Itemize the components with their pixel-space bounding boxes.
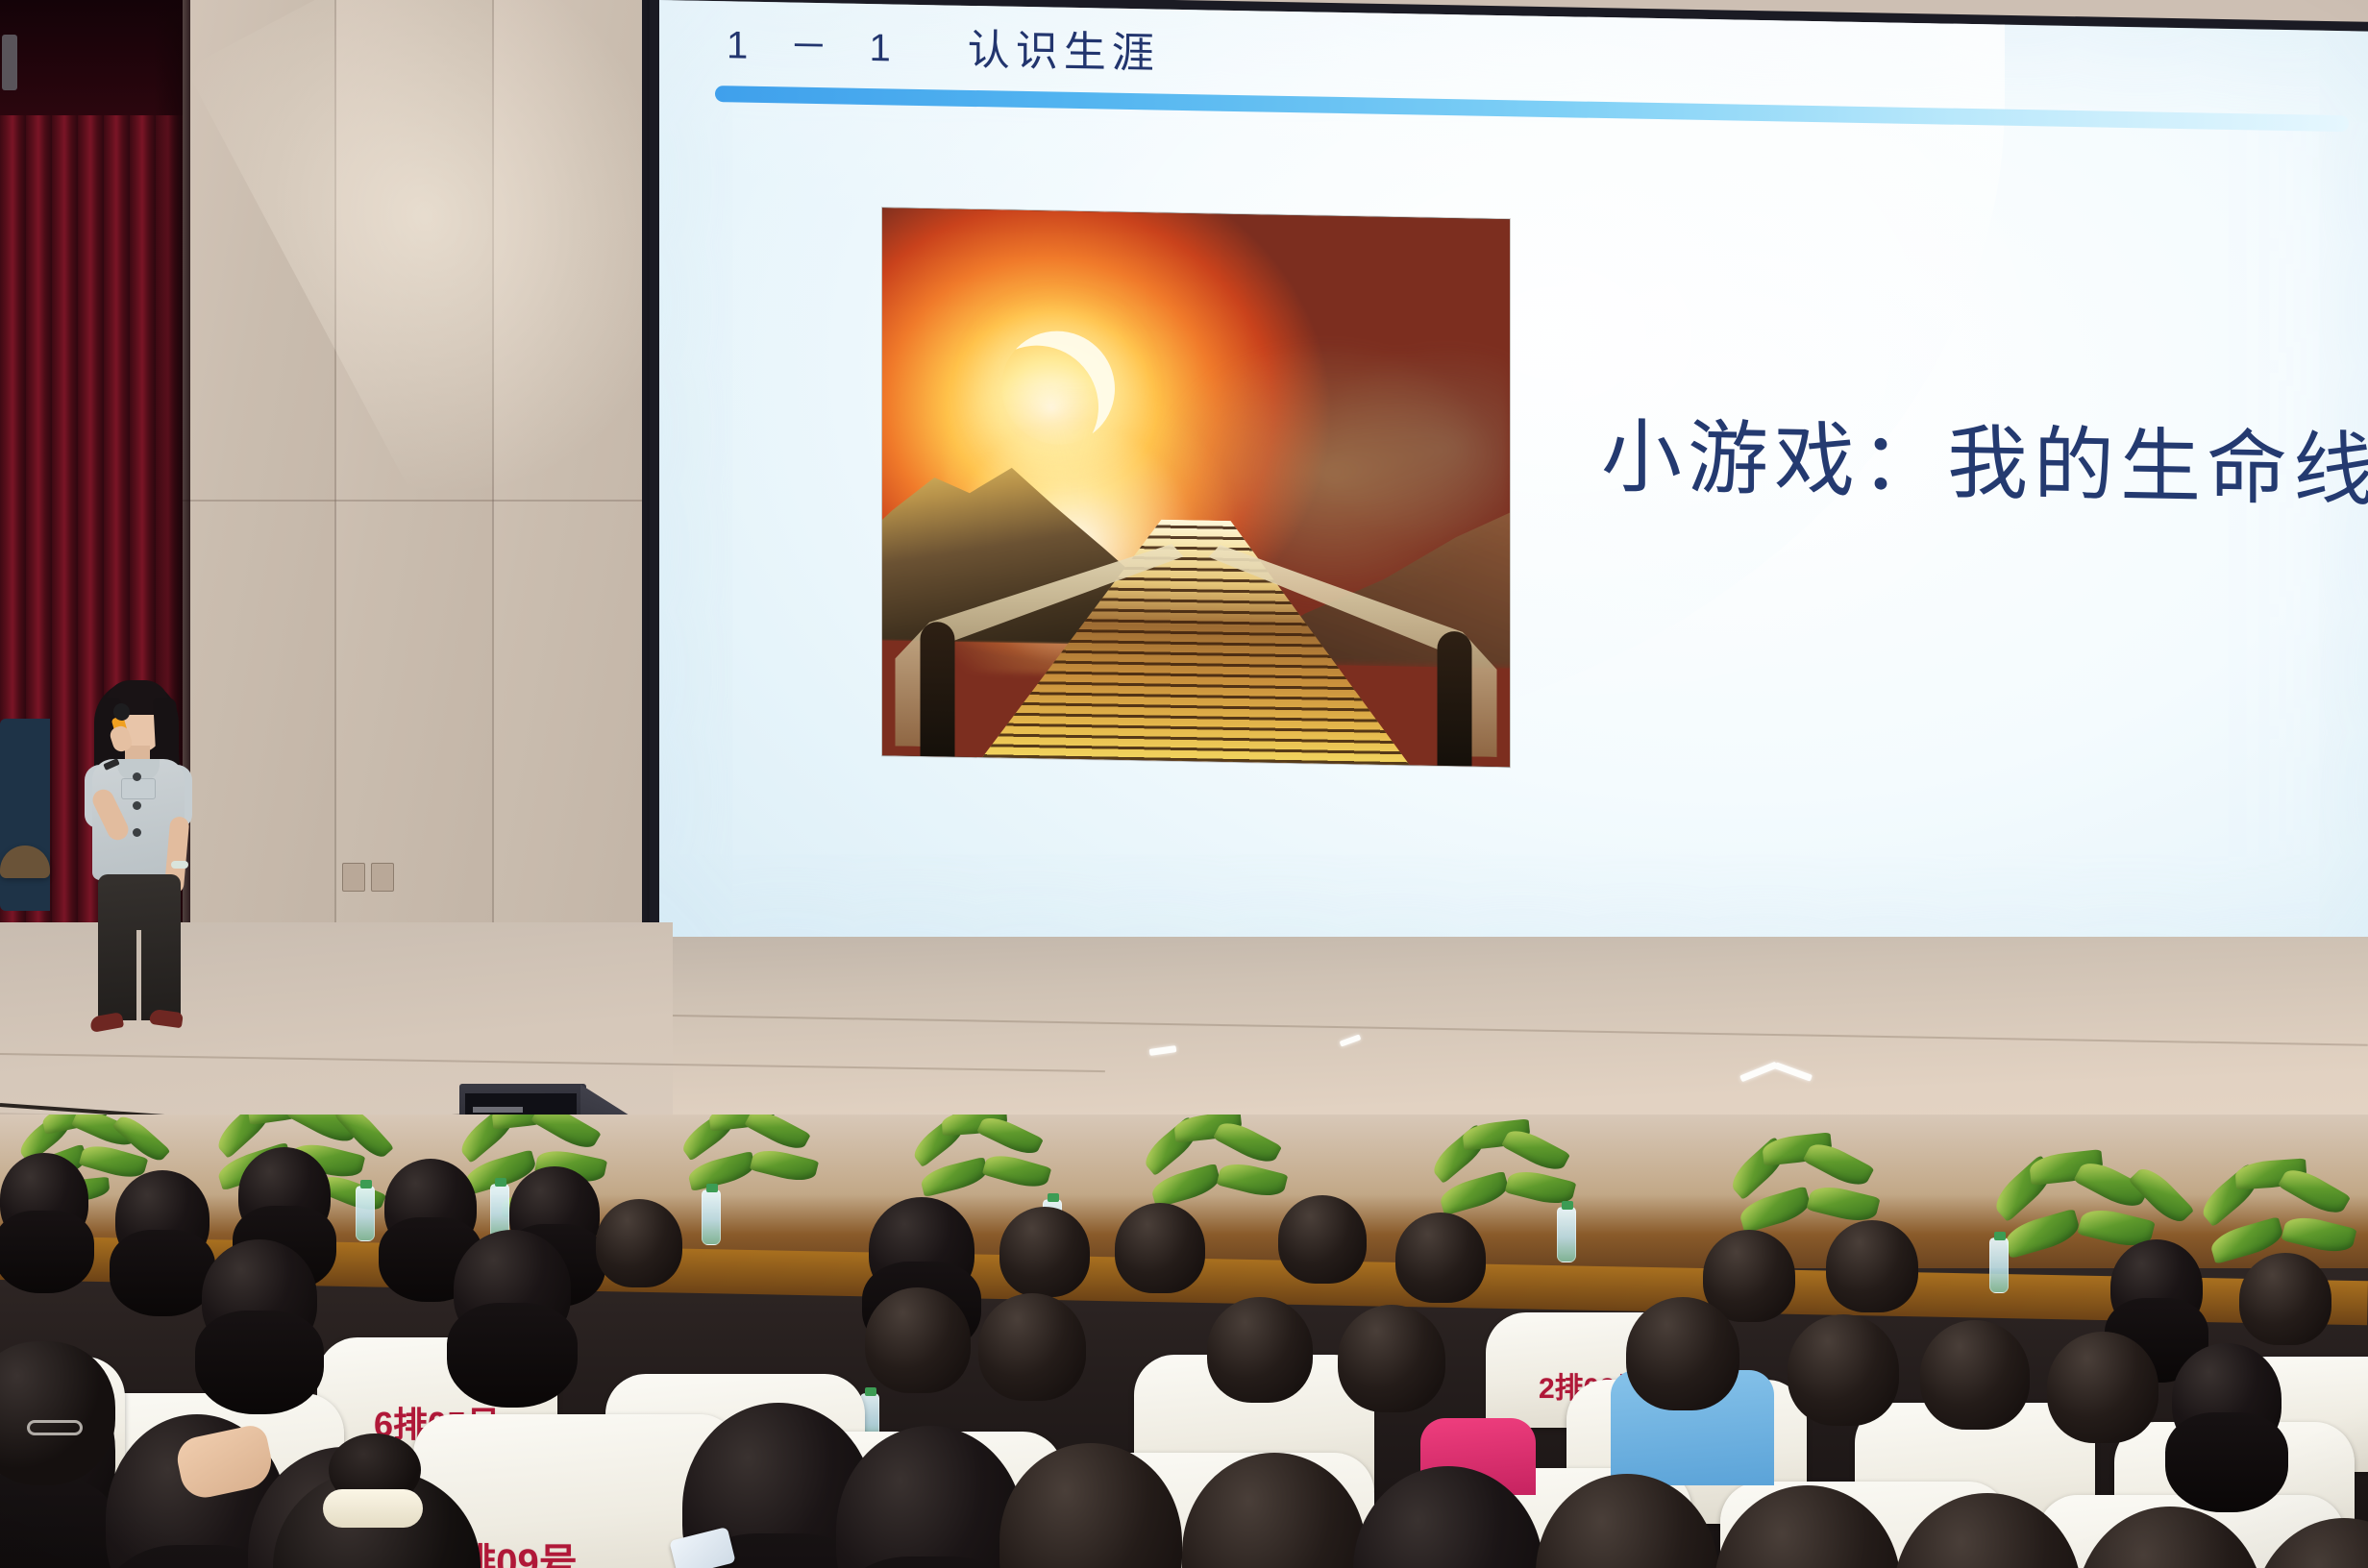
presenter-button [133,828,141,837]
presenter-shoe-left [89,1012,124,1033]
audience-head [238,1147,331,1241]
slide-image-bridge-structure [882,514,1510,767]
water-bottle [702,1189,721,1245]
slide-body-title: 小游戏：我的生命线 [1601,392,2368,523]
audience-area: 2排09号 5号 6排05号 07号 8排07号 8排09号 [0,1115,2368,1568]
audience-head [1920,1320,2030,1430]
auditorium-photo: 1 － 1 认识生涯 小游戏：我的生命线 [0,0,2368,1568]
audience-head [2239,1253,2331,1345]
presenter-pocket [121,778,156,799]
audience-head [869,1197,974,1301]
slide-image-bridge [882,208,1510,767]
presenter-shoe-right [149,1009,184,1029]
bridge-post-left [920,622,954,757]
wall-seam [181,500,646,502]
presenter-button [133,801,141,810]
audience-head [1278,1195,1367,1284]
monitor-brand-label [473,1107,523,1113]
slide-header: 1 － 1 认识生涯 [727,11,1160,80]
audience-head [999,1207,1090,1297]
glasses-icon [27,1420,83,1435]
audience-head [1826,1220,1918,1312]
wall-socket [371,863,394,892]
audience-ponytail-head [267,1437,488,1568]
side-chair [0,719,50,911]
audience-head [596,1199,682,1287]
projection-screen: 1 － 1 认识生涯 小游戏：我的生命线 [659,0,2368,977]
audience-head [978,1293,1086,1401]
slide-section-title: 认识生涯 [968,15,1160,81]
bridge-post-right [1438,630,1472,766]
audience-head [454,1230,571,1347]
audience-head [1788,1314,1899,1426]
audience-head [1395,1213,1486,1303]
water-bottle [356,1186,375,1241]
audience-head [115,1170,210,1266]
audience-head [384,1159,477,1253]
audience-head [1626,1297,1739,1410]
presenter-bracelet [171,861,188,869]
audience-head [202,1239,317,1355]
audience-head [0,1153,88,1245]
audience-head [2110,1239,2203,1334]
audience-head [1338,1305,1445,1412]
audience-head-with-glasses [0,1341,115,1485]
curtain-hook [2,35,17,90]
slide-header-rule [715,86,2349,132]
hair-scrunchie [323,1489,423,1528]
slide-section-number: 1 － 1 [727,13,906,72]
audience-head [2047,1332,2158,1443]
water-bottle [1989,1237,2009,1293]
audience-head [2172,1343,2282,1455]
presenter [67,673,240,1095]
presenter-leg-gap [136,930,141,1020]
audience-head [1115,1203,1205,1293]
audience-head [865,1287,971,1393]
audience-head [1207,1297,1313,1403]
header-spacer [906,45,968,46]
water-bottle [1557,1207,1576,1262]
presenter-button [133,772,141,781]
bridge-deck [907,515,1485,767]
side-chair-seat [0,845,50,878]
wall-socket [342,863,365,892]
